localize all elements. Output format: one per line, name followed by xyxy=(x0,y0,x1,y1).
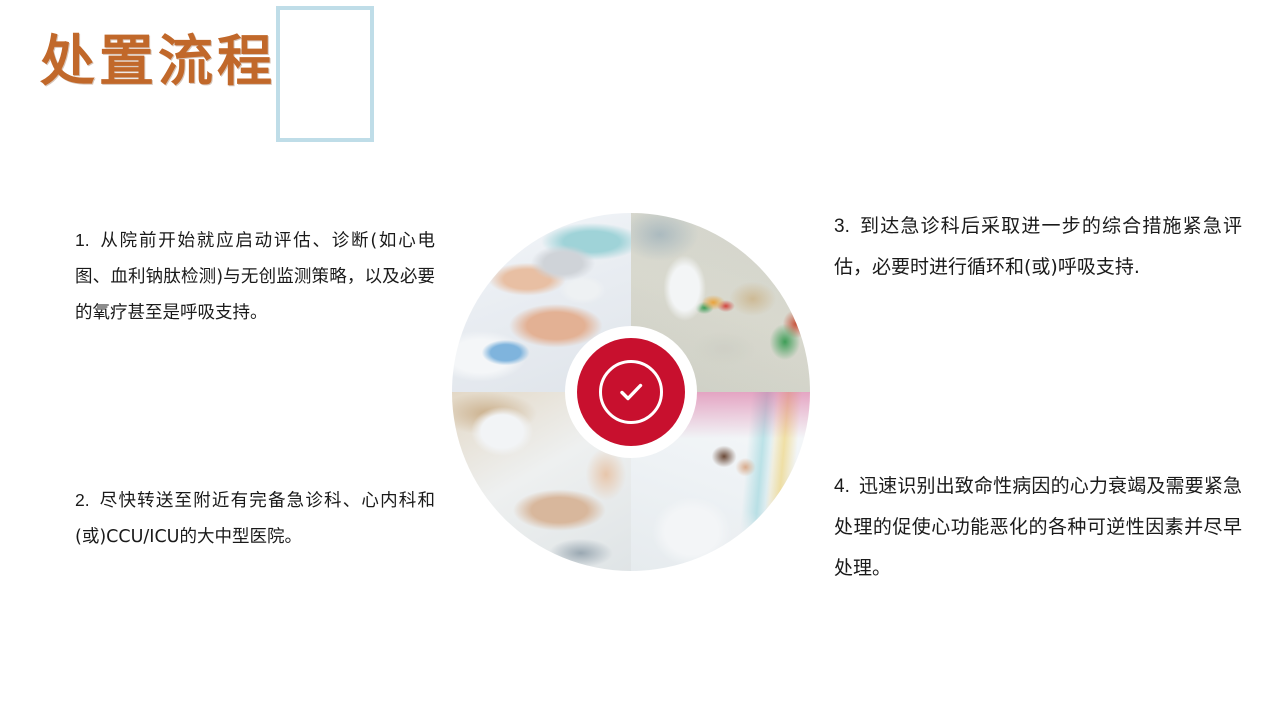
check-circle-icon xyxy=(599,360,663,424)
list-item-2-text: 尽快转送至附近有完备急诊科、心内科和(或)CCU/ICU的大中型医院。 xyxy=(75,491,435,547)
title-decoration-rectangle xyxy=(276,6,374,142)
list-item-3-number: 3. xyxy=(834,216,850,237)
list-item-4: 4.迅速识别出致命性病因的心力衰竭及需要紧急处理的促使心功能恶化的各种可逆性因素… xyxy=(834,466,1242,589)
list-item-4-text: 迅速识别出致命性病因的心力衰竭及需要紧急处理的促使心功能恶化的各种可逆性因素并尽… xyxy=(834,475,1242,579)
list-item-4-number: 4. xyxy=(834,476,850,497)
collage-center-hub xyxy=(565,326,697,458)
list-item-1-number: 1. xyxy=(75,230,90,250)
list-item-3-text: 到达急诊科后采取进一步的综合措施紧急评估，必要时进行循环和(或)呼吸支持. xyxy=(834,215,1242,278)
circular-photo-collage xyxy=(452,213,810,571)
slide-canvas: 处置流程 1.从院前开始就应启动评估、诊断(如心电图、血利钠肽检测)与无创监测策… xyxy=(0,0,1280,720)
list-item-1-text: 从院前开始就应启动评估、诊断(如心电图、血利钠肽检测)与无创监测策略，以及必要的… xyxy=(75,231,435,323)
collage-center-disc xyxy=(577,338,685,446)
list-item-2-number: 2. xyxy=(75,490,90,510)
list-item-1: 1.从院前开始就应启动评估、诊断(如心电图、血利钠肽检测)与无创监测策略，以及必… xyxy=(75,222,435,331)
list-item-3: 3.到达急诊科后采取进一步的综合措施紧急评估，必要时进行循环和(或)呼吸支持. xyxy=(834,206,1242,288)
page-title: 处置流程 xyxy=(40,26,276,96)
list-item-2: 2.尽快转送至附近有完备急诊科、心内科和(或)CCU/ICU的大中型医院。 xyxy=(75,482,435,555)
